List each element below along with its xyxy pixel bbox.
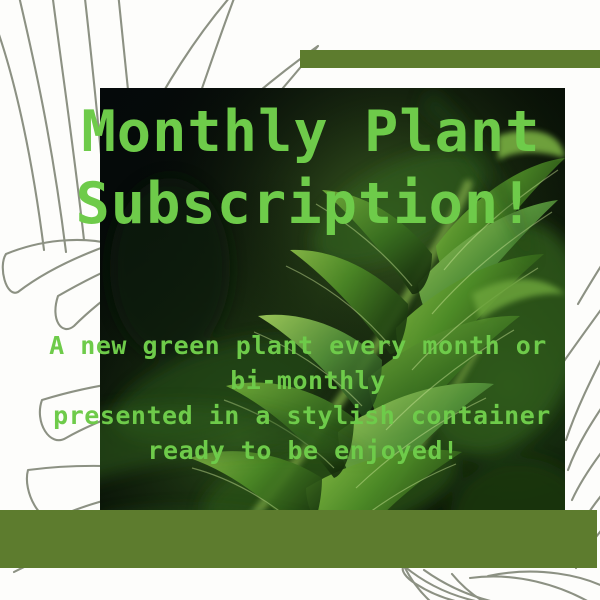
body-line-2: bi-monthly [0, 363, 600, 398]
headline: Monthly Plant Subscription! [0, 96, 600, 240]
olive-bar-bottom-right [300, 510, 597, 568]
olive-bar-top [300, 50, 600, 68]
headline-line-1: Monthly Plant [0, 96, 600, 168]
body-line-3: presented in a stylish container [0, 398, 600, 433]
poster-canvas: Monthly Plant Subscription! A new green … [0, 0, 600, 600]
body-line-4: ready to be enjoyed! [0, 433, 600, 468]
body-copy: A new green plant every month or bi-mont… [0, 328, 600, 468]
headline-line-2: Subscription! [0, 168, 600, 240]
olive-bar-bottom-left [0, 510, 300, 568]
body-line-1: A new green plant every month or [0, 328, 600, 363]
